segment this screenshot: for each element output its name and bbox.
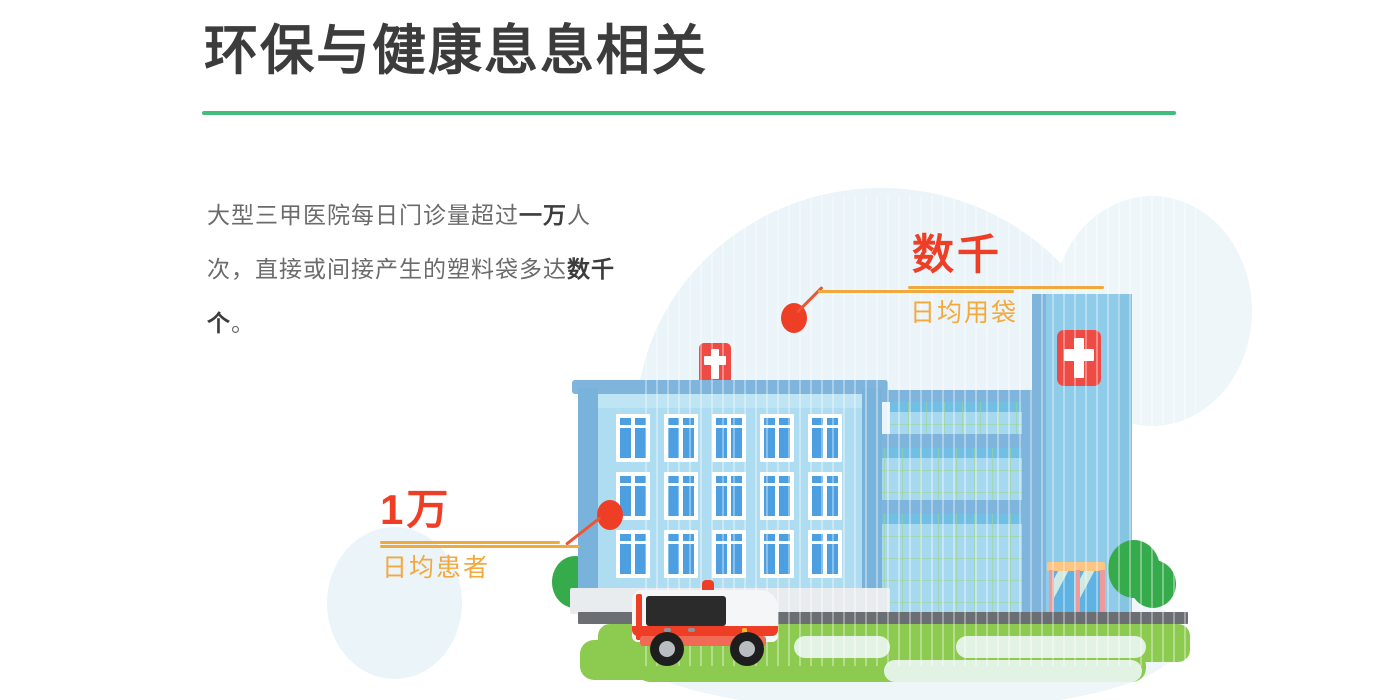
bush [1130,560,1176,608]
title-underline-rule [202,111,1176,115]
main-building-roof [572,380,888,394]
window [808,530,842,578]
callout-label: 日均患者 [382,556,560,581]
red-cross-icon [699,343,731,385]
window [760,414,794,462]
window [712,414,746,462]
window [712,472,746,520]
hospital-campus-illustration [0,0,1400,700]
window [664,472,698,520]
main-building-pillar-right [862,388,882,613]
window [760,530,794,578]
page-title: 环保与健康息息相关 [204,22,708,81]
body-paragraph: 大型三甲医院每日门诊量超过一万人次，直接或间接产生的塑料袋多达数千个。 [207,188,637,350]
paragraph-highlight: 一万 [519,202,567,228]
ambulance-wheel [730,632,764,666]
callout-value: 1万 [380,489,560,531]
callout-label: 日均用袋 [910,301,1104,326]
window [712,530,746,578]
window [808,472,842,520]
callout-marker-dot [597,500,623,530]
ambulance-wheel [650,632,684,666]
window [616,530,650,578]
red-cross-icon [1057,330,1101,386]
callout-patients: 1万 日均患者 [380,489,560,581]
window [616,414,650,462]
callout-bags: 数千 日均用袋 [908,234,1104,326]
annex-glass-band [890,402,1026,434]
callout-value: 数千 [912,234,1104,276]
ambulance-window [646,596,726,626]
slide-canvas: 环保与健康息息相关 大型三甲医院每日门诊量超过一万人次，直接或间接产生的塑料袋多… [0,0,1400,700]
main-building-pillar-left [578,388,598,613]
tower-edge-shadow [1032,294,1046,613]
ambulance-front-window [730,596,752,620]
paragraph-segment: 。 [231,310,255,336]
window [808,414,842,462]
callout-rule [380,541,560,544]
paragraph-segment: 大型三甲医院每日门诊量超过 [207,202,519,228]
entrance-door [1054,571,1074,613]
main-building-band [590,394,870,408]
lawn-marking [884,660,1142,682]
ambulance-door-handle [688,628,695,632]
ambulance [626,574,786,666]
entrance-door [1080,571,1100,613]
window [664,414,698,462]
entrance-post [1100,570,1105,614]
lawn-marking [956,636,1146,658]
callout-rule [908,286,1104,289]
lawn-marking [794,636,890,658]
window [760,472,794,520]
annex-roof-bar [878,390,1026,402]
window [664,530,698,578]
